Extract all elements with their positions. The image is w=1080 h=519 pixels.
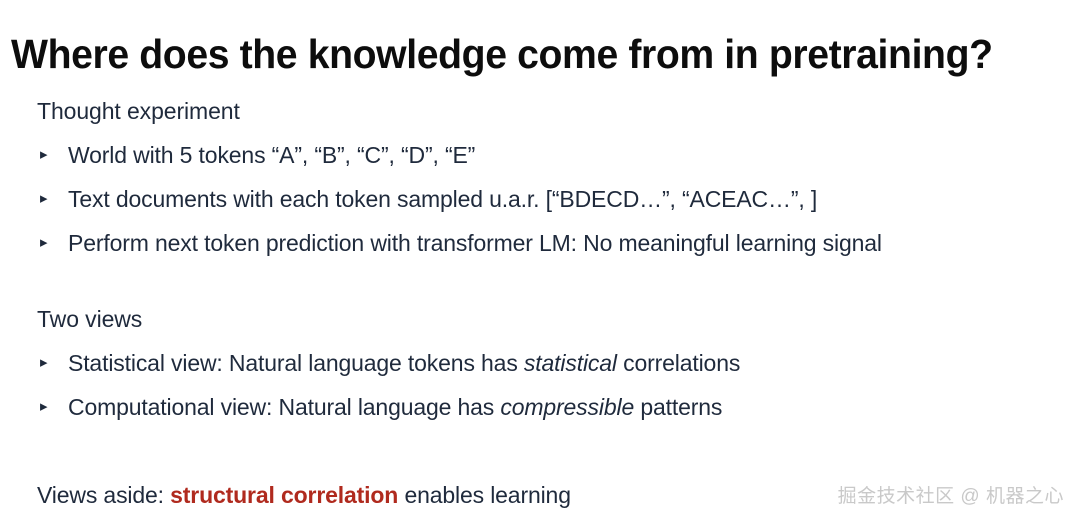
row-spacer [0, 378, 1080, 392]
watermark: 掘金技术社区 @ 机器之心 [838, 484, 1064, 510]
triangle-right-bullet-icon: ▸ [40, 140, 56, 170]
closing-accent-text: structural correlation [170, 482, 398, 508]
bullet-list: ▸ World with 5 tokens “A”, “B”, “C”, “D”… [0, 140, 1080, 258]
section-two-views: Two views ▸ Statistical view: Natural la… [0, 304, 1080, 422]
section-heading: Two views [37, 304, 1080, 334]
list-item-label: Statistical view: Natural language token… [68, 350, 740, 376]
row-spacer [0, 170, 1080, 184]
list-item: ▸ Statistical view: Natural language tok… [40, 348, 1080, 378]
closing-suffix: enables learning [398, 482, 571, 508]
list-item-label: Computational view: Natural language has… [68, 394, 722, 420]
closing-statement: Views aside: structural correlation enab… [37, 480, 571, 510]
list-item-label: Perform next token prediction with trans… [68, 230, 882, 256]
triangle-right-bullet-icon: ▸ [40, 184, 56, 214]
triangle-right-bullet-icon: ▸ [40, 228, 56, 258]
list-item-label: World with 5 tokens “A”, “B”, “C”, “D”, … [68, 142, 475, 168]
list-item-label: Text documents with each token sampled u… [68, 186, 817, 212]
closing-prefix: Views aside: [37, 482, 170, 508]
slide-body: Thought experiment ▸ World with 5 tokens… [0, 96, 1080, 422]
page-title: Where does the knowledge come from in pr… [11, 28, 1023, 80]
list-item: ▸ Perform next token prediction with tra… [40, 228, 1080, 258]
bullet-list: ▸ Statistical view: Natural language tok… [0, 348, 1080, 422]
list-item: ▸ Computational view: Natural language h… [40, 392, 1080, 422]
row-spacer [0, 214, 1080, 228]
emphasis-text: statistical [524, 350, 617, 376]
section-heading: Thought experiment [37, 96, 1080, 126]
triangle-right-bullet-icon: ▸ [40, 348, 56, 378]
list-item: ▸ Text documents with each token sampled… [40, 184, 1080, 214]
emphasis-text: compressible [500, 394, 634, 420]
section-thought-experiment: Thought experiment ▸ World with 5 tokens… [0, 96, 1080, 258]
list-item: ▸ World with 5 tokens “A”, “B”, “C”, “D”… [40, 140, 1080, 170]
slide-canvas: Where does the knowledge come from in pr… [0, 0, 1080, 519]
triangle-right-bullet-icon: ▸ [40, 392, 56, 422]
